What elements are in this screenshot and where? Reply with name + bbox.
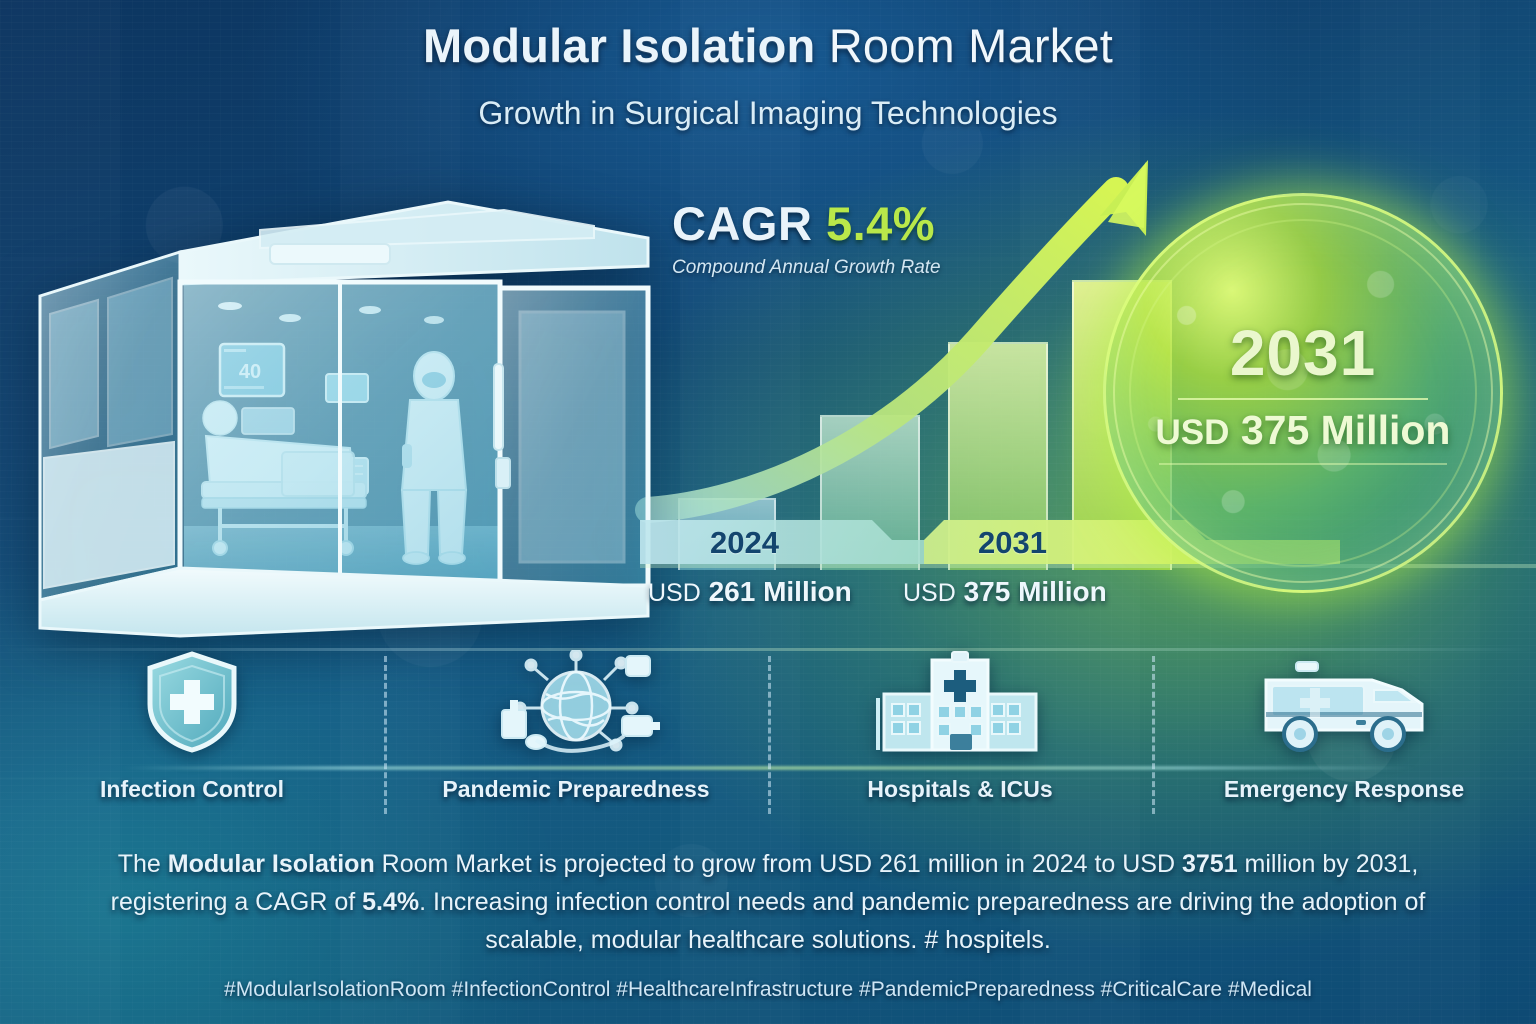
door-handle (494, 364, 503, 450)
feature-pandemic-preparedness[interactable]: Pandemic Preparedness (384, 650, 768, 822)
feature-emergency-response[interactable]: Emergency Response (1152, 650, 1536, 822)
badge-amount: 375 Million (1241, 407, 1451, 453)
para-bold-2: 3751 (1182, 850, 1238, 878)
para-part-2: Room Market is projected to grow from US… (375, 850, 1182, 878)
forecast-badge: 2031 USD 375 Million (1103, 193, 1503, 593)
para-bold-1: Modular Isolation (168, 850, 375, 878)
cagr-block: CAGR 5.4% Compound Annual Growth Rate (672, 196, 941, 279)
ambulance-icon (1256, 650, 1432, 754)
amount-2024: 261 Million (709, 576, 852, 607)
currency-2031: USD (903, 579, 956, 607)
amount-2031: 375 Million (964, 576, 1107, 607)
badge-content: 2031 USD 375 Million (1103, 193, 1503, 593)
globe (542, 672, 610, 740)
para-part-1: The (118, 850, 168, 878)
dna-card (626, 656, 650, 676)
page-subtitle: Growth in Surgical Imaging Technologies (0, 95, 1536, 132)
market-value-2024: USD 261 Million (648, 576, 852, 608)
summary-paragraph: The Modular Isolation Room Market is pro… (60, 845, 1476, 959)
page-title-light: Room Market (815, 19, 1113, 72)
header: Modular Isolation Room Market Growth in … (0, 18, 1536, 132)
hashtag-row: #ModularIsolationRoom #InfectionControl … (40, 978, 1496, 1002)
infographic-canvas: Modular Isolation Room Market Growth in … (0, 0, 1536, 1024)
badge-divider (1178, 398, 1428, 400)
feature-label-0: Infection Control (100, 776, 284, 803)
syringe (622, 716, 652, 736)
door-lock-panel (496, 458, 510, 488)
side-stripe (1266, 712, 1422, 717)
feature-row: Infection Control (0, 650, 1536, 822)
room-roof (180, 202, 648, 284)
badge-value: USD 375 Million (1156, 410, 1451, 451)
feature-label-3: Emergency Response (1224, 776, 1464, 803)
hospital-building-icon (876, 650, 1044, 754)
feature-infection-control[interactable]: Infection Control (0, 650, 384, 822)
ribbon-label-2024: 2024 (710, 525, 779, 561)
modular-isolation-room-image: 40 (34, 196, 654, 662)
para-part-4: . Increasing infection control needs and… (419, 888, 1425, 954)
room-left-wall (40, 252, 180, 600)
hospital-entrance (950, 734, 972, 750)
market-value-2031: USD 375 Million (903, 576, 1107, 608)
para-bold-3: 5.4% (362, 888, 419, 916)
feature-hospitals-icus[interactable]: Hospitals & ICUs (768, 650, 1152, 822)
cagr-label: CAGR (672, 197, 812, 250)
ribbon-label-2031: 2031 (978, 525, 1047, 561)
door-handle (1356, 720, 1366, 725)
sliding-glass-doors (180, 282, 648, 586)
shield-cross-icon (144, 650, 240, 754)
badge-divider-lower (1159, 463, 1447, 465)
cagr-value: 5.4% (826, 197, 935, 250)
page-title-bold: Modular Isolation (423, 19, 815, 72)
feature-label-2: Hospitals & ICUs (867, 776, 1052, 803)
cagr-headline: CAGR 5.4% (672, 196, 941, 251)
currency-2024: USD (648, 579, 701, 607)
badge-year: 2031 (1230, 321, 1376, 385)
siren-light (1296, 662, 1318, 671)
ribbon-2024 (640, 520, 924, 564)
feature-label-1: Pandemic Preparedness (442, 776, 709, 803)
lab-equipment (502, 710, 526, 738)
page-title: Modular Isolation Room Market (0, 18, 1536, 73)
badge-currency: USD (1156, 413, 1230, 452)
cagr-caption: Compound Annual Growth Rate (672, 257, 941, 279)
hvac-unit (270, 244, 390, 264)
virus-globe-network-icon (492, 650, 660, 754)
isolation-room-illustration: 40 (34, 196, 654, 662)
